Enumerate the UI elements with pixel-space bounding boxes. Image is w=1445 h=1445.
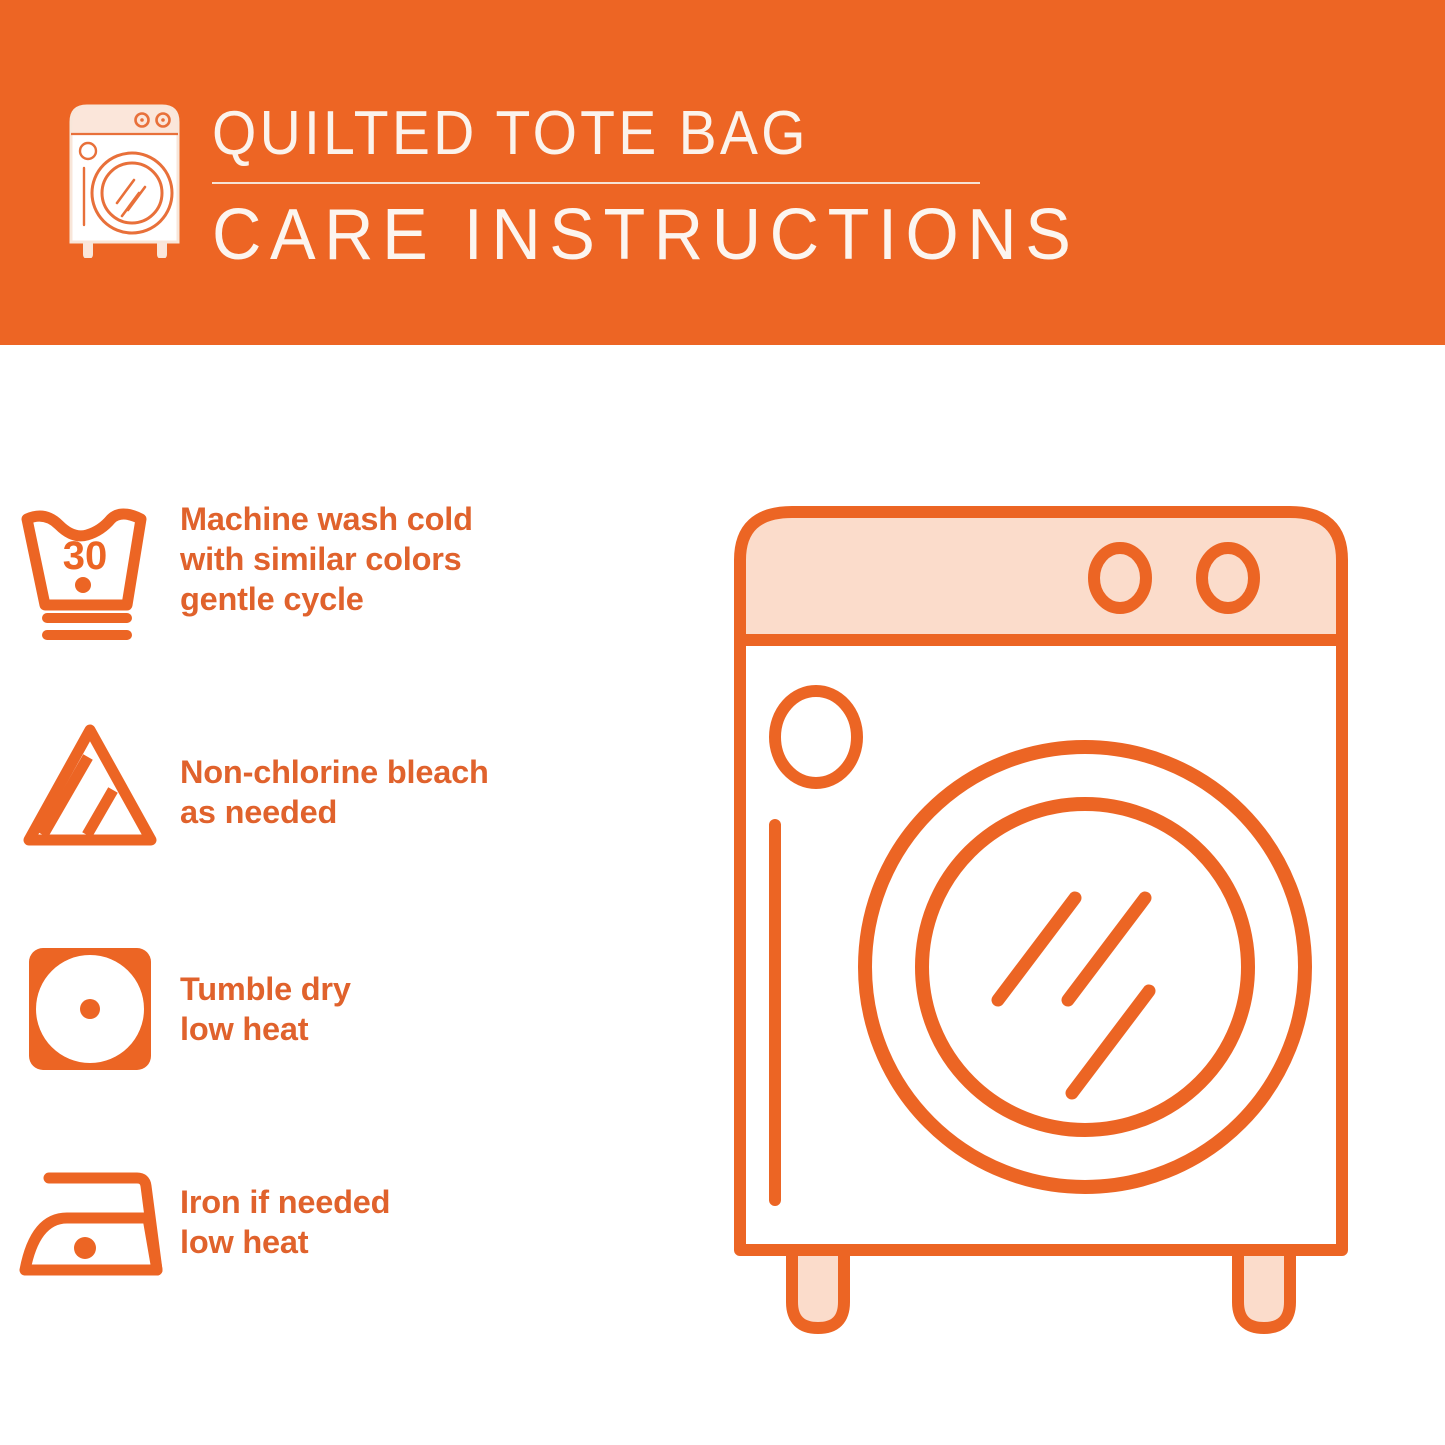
care-item-text: Non-chlorine bleach as needed bbox=[180, 710, 489, 832]
care-line-1: Iron if needed bbox=[180, 1182, 390, 1222]
bleach-triangle-icon bbox=[0, 710, 180, 862]
care-line-1: Machine wash cold bbox=[180, 499, 473, 539]
care-line-2: as needed bbox=[180, 792, 489, 832]
quilt-stripe-3 bbox=[1072, 991, 1149, 1093]
quilt-stripe-2 bbox=[1068, 898, 1145, 1000]
care-line-1: Non-chlorine bleach bbox=[180, 752, 489, 792]
indicator-light bbox=[775, 691, 857, 783]
title-divider bbox=[212, 182, 980, 184]
care-item-bleach: Non-chlorine bleach as needed bbox=[0, 710, 700, 862]
care-line-1: Tumble dry bbox=[180, 969, 351, 1009]
care-item-iron: Iron if needed low heat bbox=[0, 1150, 700, 1302]
care-line-3: gentle cycle bbox=[180, 579, 473, 619]
quilt-stripe-1 bbox=[998, 898, 1075, 1000]
care-instruction-list: 30 Machine wash cold with similar colors… bbox=[0, 345, 700, 1445]
leg-right bbox=[1238, 1250, 1290, 1328]
tumble-dry-icon bbox=[0, 937, 180, 1089]
page-subtitle: CARE INSTRUCTIONS bbox=[212, 196, 963, 274]
care-item-text: Iron if needed low heat bbox=[180, 1150, 390, 1262]
iron-icon bbox=[0, 1150, 180, 1302]
washing-machine-illustration bbox=[700, 440, 1420, 1400]
header-text-block: QUILTED TOTE BAG CARE INSTRUCTIONS bbox=[212, 100, 1002, 274]
care-item-tumble-dry: Tumble dry low heat bbox=[0, 937, 700, 1089]
svg-text:30: 30 bbox=[63, 534, 108, 578]
care-item-text: Machine wash cold with similar colors ge… bbox=[180, 495, 473, 619]
leg-left bbox=[792, 1250, 844, 1328]
care-item-machine-wash: 30 Machine wash cold with similar colors… bbox=[0, 495, 700, 647]
care-line-2: with similar colors bbox=[180, 539, 473, 579]
care-line-2: low heat bbox=[180, 1222, 390, 1262]
washing-machine-icon bbox=[62, 98, 187, 258]
page-title: QUILTED TOTE BAG bbox=[212, 100, 939, 168]
wash-basin-30-icon: 30 bbox=[0, 495, 180, 647]
care-line-2: low heat bbox=[180, 1009, 351, 1049]
care-item-text: Tumble dry low heat bbox=[180, 937, 351, 1049]
care-instructions-page: QUILTED TOTE BAG CARE INSTRUCTIONS 30 bbox=[0, 0, 1445, 1445]
header-banner: QUILTED TOTE BAG CARE INSTRUCTIONS bbox=[0, 0, 1445, 345]
